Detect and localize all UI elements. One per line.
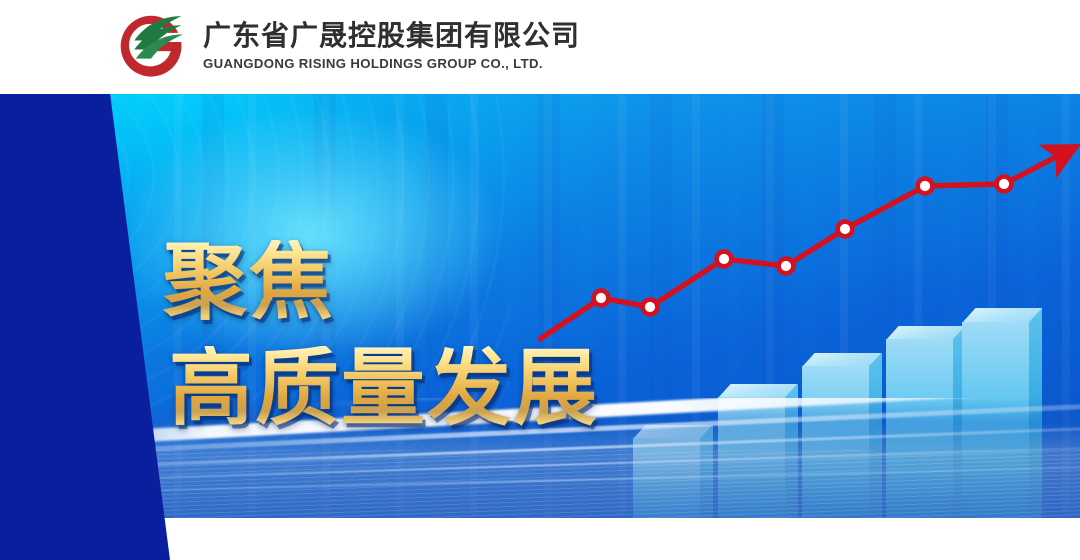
brand-text-group: 广东省广晟控股集团有限公司 GUANGDONG RISING HOLDINGS … <box>203 19 580 71</box>
guangdong-rising-logo-mark <box>113 7 189 83</box>
trend-marker <box>717 252 732 267</box>
brand-lockup: 广东省广晟控股集团有限公司 GUANGDONG RISING HOLDINGS … <box>113 7 580 83</box>
trend-marker <box>997 177 1012 192</box>
brand-name-cn: 广东省广晟控股集团有限公司 <box>203 19 580 52</box>
trend-marker <box>838 222 853 237</box>
header-bar: 广东省广晟控股集团有限公司 GUANGDONG RISING HOLDINGS … <box>0 0 1080 94</box>
trend-marker <box>643 300 658 315</box>
trend-marker <box>918 179 933 194</box>
artwork-panel: 聚焦 高质量发展 <box>0 94 1080 518</box>
trend-markers <box>594 177 1012 315</box>
brand-name-en: GUANGDONG RISING HOLDINGS GROUP CO., LTD… <box>203 56 580 71</box>
headline-block: 聚焦 高质量发展 <box>163 240 599 430</box>
trend-line-path <box>540 156 1058 339</box>
headline-line-1: 聚焦 <box>163 240 599 324</box>
trend-marker <box>779 259 794 274</box>
promotional-banner: 聚焦 高质量发展 广东省广晟控股集团有限公司 GUANGDONG RISING … <box>0 0 1080 560</box>
headline-line-2: 高质量发展 <box>169 346 599 430</box>
